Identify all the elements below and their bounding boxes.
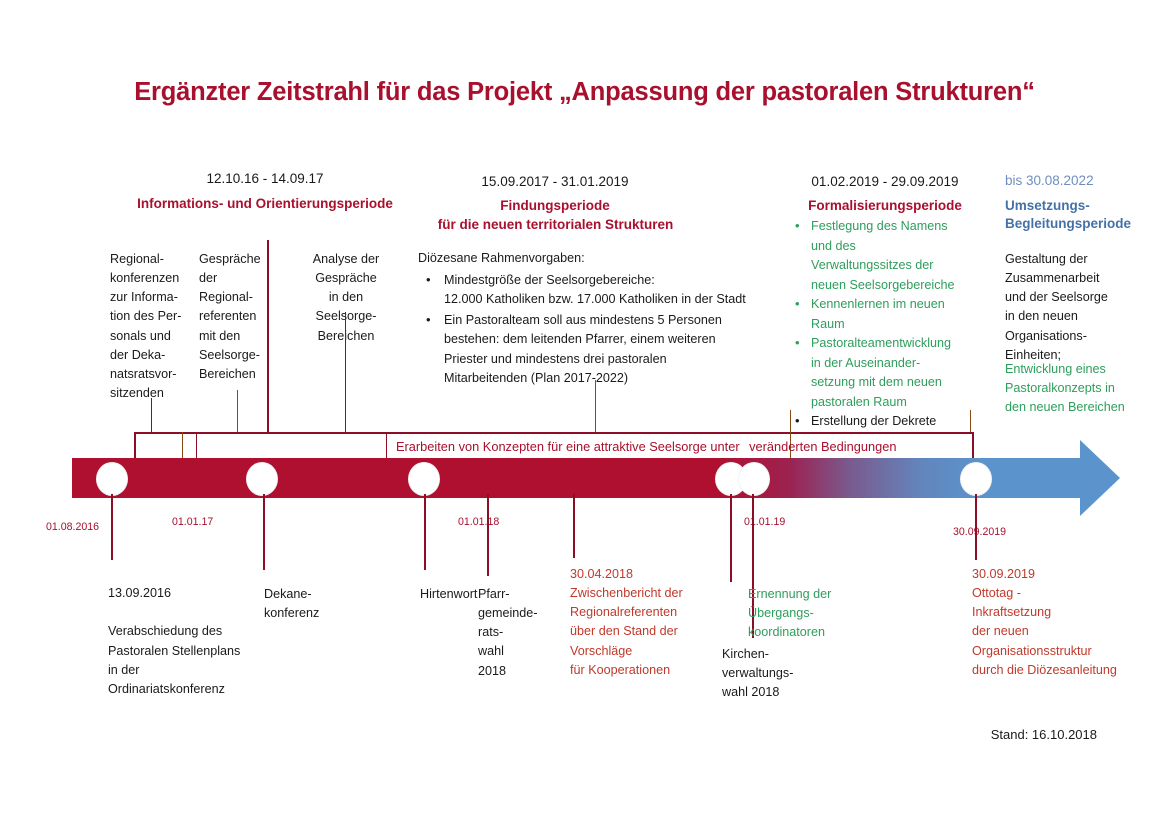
timeline-node[interactable] xyxy=(960,462,992,496)
bullet-icon: • xyxy=(795,216,800,236)
column-regionalkonferenzen: Regional- konferenzen zur Informa- tion … xyxy=(110,250,205,403)
connector-line xyxy=(970,410,971,433)
period-4-name-line2: Begleitungsperiode xyxy=(1005,215,1169,233)
findung-item-1: • Mindestgröße der Seelsorgebereiche: 12… xyxy=(418,271,778,310)
column-gespraeche: Gespräche der Regional- referenten mit d… xyxy=(199,250,284,384)
event-0: 13.09.2016 Verabschiedung des Pastoralen… xyxy=(108,565,288,718)
event-7: 30.09.2019 Ottotag - Inkraftsetzung der … xyxy=(972,565,1169,680)
period-2-name-line2: für die neuen territorialen Strukturen xyxy=(398,216,713,234)
event-4: 30.04.2018 Zwischenbericht der Regionalr… xyxy=(570,565,715,680)
connector-line xyxy=(790,410,791,433)
bracket-tick xyxy=(386,432,387,460)
bracket-tick xyxy=(196,432,197,460)
event-0-text: Verabschiedung des Pastoralen Stellenpla… xyxy=(108,622,288,699)
period-1-dates: 12.10.16 - 14.09.17 xyxy=(140,171,390,186)
event-3: Pfarr- gemeinde- rats- wahl 2018 xyxy=(478,585,553,681)
event-connector xyxy=(111,494,113,560)
connector-line xyxy=(267,240,269,433)
bullet-icon: • xyxy=(426,270,431,290)
timeline-node[interactable] xyxy=(408,462,440,496)
bracket-left-stem xyxy=(134,432,136,460)
period-3-name: Formalisierungsperiode xyxy=(790,197,980,215)
event-1: Dekane- konferenz xyxy=(264,585,354,623)
findung-lead: Diözesane Rahmenvorgaben: xyxy=(418,249,778,269)
event-connector xyxy=(573,494,575,558)
bar-label-3: 01.01.19 xyxy=(744,516,785,528)
bar-label-2: 01.01.18 xyxy=(458,516,499,528)
formalisierung-item-2: • Kennenlernen im neuen Raum xyxy=(795,295,985,334)
timeline-node[interactable] xyxy=(246,462,278,496)
bar-label-1: 01.01.17 xyxy=(172,516,213,528)
findung-item-1-text: Mindestgröße der Seelsorgebereiche: 12.0… xyxy=(444,273,746,307)
findung-list: Diözesane Rahmenvorgaben: • Mindestgröße… xyxy=(418,249,778,390)
timeline-node[interactable] xyxy=(738,462,770,496)
event-5: Ernennung der Übergangs- koordinatoren xyxy=(748,585,878,642)
bullet-icon: • xyxy=(795,294,800,314)
connector-line xyxy=(345,312,346,433)
timeline-bar xyxy=(72,458,1082,498)
event-7-text: Ottotag - Inkraftsetzung der neuen Organ… xyxy=(972,584,1169,680)
findung-item-2-text: Ein Pastoralteam soll aus mindestens 5 P… xyxy=(444,313,722,386)
timeline-node[interactable] xyxy=(96,462,128,496)
banner-text: Erarbeiten von Konzepten für eine attrak… xyxy=(396,439,976,454)
formalisierung-item-4-text: Erstellung der Dekrete xyxy=(811,414,936,428)
formalisierung-item-1: • Festlegung des Namens und des Verwaltu… xyxy=(795,217,985,295)
event-connector xyxy=(263,494,265,570)
connector-line xyxy=(237,390,238,433)
bullet-icon: • xyxy=(426,310,431,330)
period-4-name-line1: Umsetzungs- xyxy=(1005,197,1165,215)
formalisierung-item-1-text: Festlegung des Namens und des Verwaltung… xyxy=(811,219,955,292)
connector-line xyxy=(595,380,596,433)
bar-label-0: 01.08.2016 xyxy=(46,521,99,533)
timeline-arrowhead xyxy=(1080,440,1120,516)
bullet-icon: • xyxy=(795,411,800,431)
bar-label-4: 30.09.2019 xyxy=(953,526,1006,538)
period-3-dates: 01.02.2019 - 29.09.2019 xyxy=(790,174,980,189)
formalisierung-item-3-text: Pastoralteamentwicklung in der Auseinand… xyxy=(811,336,951,409)
connector-line xyxy=(151,398,152,433)
event-4-text: Zwischenbericht der Regionalreferenten ü… xyxy=(570,584,715,680)
column-umsetzung-green: Entwicklung eines Pastoralkonzepts in de… xyxy=(1005,360,1165,417)
stand-label: Stand: 16.10.2018 xyxy=(991,727,1097,742)
period-1-name: Informations- und Orientierungsperiode xyxy=(110,195,420,213)
formalisierung-item-4: • Erstellung der Dekrete xyxy=(795,412,985,432)
period-2-name-line1: Findungsperiode xyxy=(420,197,690,215)
event-4-date: 30.04.2018 xyxy=(570,565,715,584)
formalisierung-list: • Festlegung des Namens und des Verwaltu… xyxy=(795,217,985,432)
event-connector xyxy=(487,494,489,576)
event-6: Kirchen- verwaltungs- wahl 2018 xyxy=(722,645,832,702)
banner-text-part1: Erarbeiten von Konzepten für eine attrak… xyxy=(396,439,740,454)
page-title: Ergänzter Zeitstrahl für das Projekt „An… xyxy=(0,78,1169,107)
column-umsetzung-black: Gestaltung der Zusammenarbeit und der Se… xyxy=(1005,250,1165,365)
event-connector xyxy=(424,494,426,570)
event-0-date: 13.09.2016 xyxy=(108,584,288,603)
period-4-dates: bis 30.08.2022 xyxy=(1005,173,1165,188)
event-7-date: 30.09.2019 xyxy=(972,565,1169,584)
findung-item-2: • Ein Pastoralteam soll aus mindestens 5… xyxy=(418,311,778,389)
bracket-rail xyxy=(134,432,974,434)
formalisierung-item-2-text: Kennenlernen im neuen Raum xyxy=(811,297,945,331)
event-connector xyxy=(730,494,732,582)
bracket-tick xyxy=(182,432,183,460)
timeline-page: Ergänzter Zeitstrahl für das Projekt „An… xyxy=(0,0,1169,827)
event-connector xyxy=(975,494,977,560)
formalisierung-item-3: • Pastoralteamentwicklung in der Auseina… xyxy=(795,334,985,412)
banner-text-part2: veränderten Bedingungen xyxy=(749,439,896,454)
period-2-dates: 15.09.2017 - 31.01.2019 xyxy=(410,174,700,189)
bullet-icon: • xyxy=(795,333,800,353)
